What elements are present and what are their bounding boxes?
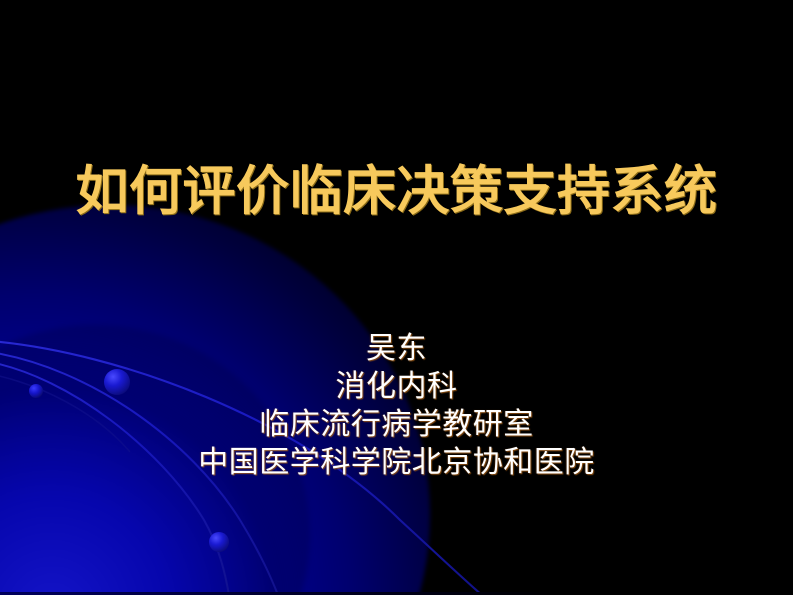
- orbit-arcs-svg: [0, 0, 793, 595]
- subtitle-line-presenter: 吴东: [0, 330, 793, 368]
- subtitle-line-department: 消化内科: [0, 368, 793, 406]
- subtitle-line-institution: 中国医学科学院北京协和医院: [0, 444, 793, 482]
- slide-title: 如何评价临床决策支持系统: [0, 160, 793, 225]
- slide-subtitle-block: 吴东 消化内科 临床流行病学教研室 中国医学科学院北京协和医院: [0, 330, 793, 482]
- subtitle-line-division: 临床流行病学教研室: [0, 406, 793, 444]
- orbit-node-bottom: [209, 532, 229, 552]
- presentation-slide: 如何评价临床决策支持系统 吴东 消化内科 临床流行病学教研室 中国医学科学院北京…: [0, 0, 793, 595]
- slide-background-decoration: [0, 0, 793, 595]
